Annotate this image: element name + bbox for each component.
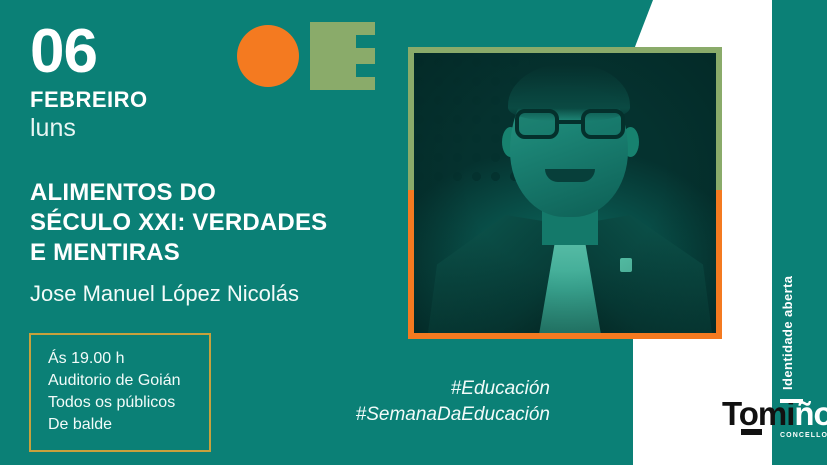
frame-border-left-green — [408, 47, 414, 190]
vertical-slogan: Identidade aberta — [780, 240, 802, 390]
oe-logo — [237, 22, 367, 92]
hashtag-educacion: #Educación — [300, 376, 550, 402]
event-details-box: Ás 19.00 h Auditorio de Goián Todos os p… — [29, 333, 211, 452]
frame-border-right-orange — [716, 190, 722, 339]
detail-venue: Auditorio de Goián — [48, 370, 194, 392]
e-notch-lower — [356, 64, 375, 77]
speaker-portrait-frame — [408, 47, 722, 339]
e-notch-upper — [356, 35, 375, 48]
event-title: ALIMENTOS DO SÉCULO XXI: VERDADES E MENT… — [30, 178, 390, 268]
tomino-wordmark: Tomiño — [722, 396, 827, 432]
detail-audience: Todos os públicos — [48, 392, 194, 414]
tomino-subtitle: CONCELLO — [780, 432, 827, 439]
speaker-portrait-photo — [414, 53, 716, 333]
green-e-square-icon — [310, 22, 375, 90]
orange-circle-icon — [237, 25, 299, 87]
frame-border-bottom — [408, 333, 722, 339]
tomino-concello-logo: Tomiño CONCELLO — [722, 396, 820, 442]
event-title-line-3: E MENTIRAS — [30, 238, 390, 268]
frame-border-right-green — [716, 47, 722, 190]
portrait-vignette — [414, 53, 716, 333]
hashtag-semanadaeducacion: #SemanaDaEducación — [300, 402, 550, 428]
detail-time: Ás 19.00 h — [48, 348, 194, 370]
event-title-line-1: ALIMENTOS DO — [30, 178, 390, 208]
tomino-tilde-mark — [780, 399, 803, 403]
frame-border-top — [408, 47, 722, 53]
frame-border-left-orange — [408, 190, 414, 339]
hashtag-group: #Educación #SemanaDaEducación — [300, 376, 550, 428]
event-title-line-2: SÉCULO XXI: VERDADES — [30, 208, 390, 238]
detail-price: De balde — [48, 414, 194, 436]
date-weekday: luns — [30, 113, 330, 143]
speaker-name: Jose Manuel López Nicolás — [30, 281, 410, 307]
event-poster: 06 FEBREIRO luns ALIMENTOS DO SÉCULO XXI… — [0, 0, 827, 465]
tomino-underline-mark — [741, 429, 762, 435]
